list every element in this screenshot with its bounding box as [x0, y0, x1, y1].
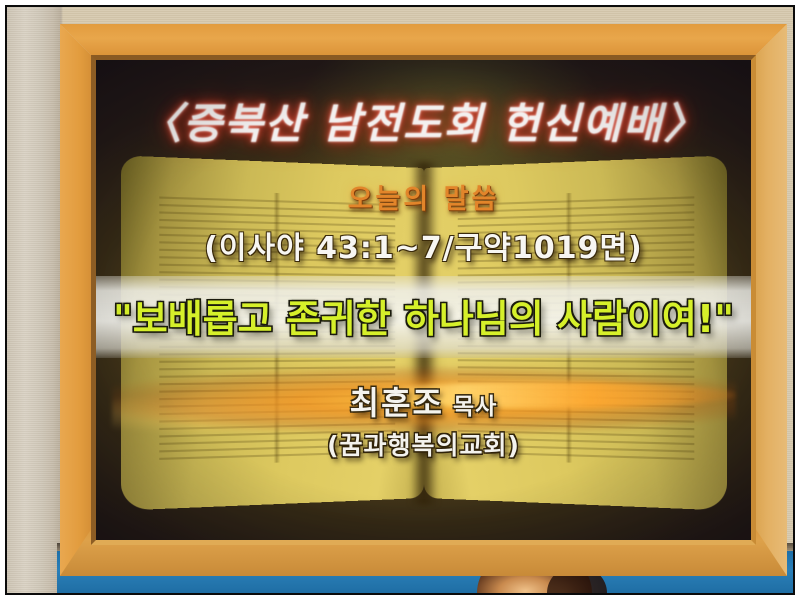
scripture-reference: (이사야 43:1~7/구약1019면)	[96, 223, 751, 267]
speaker-name: 최훈조	[350, 384, 444, 422]
slide-text-layer: 〈증북산 남전도회 헌신예배〉 오늘의 말씀 (이사야 43:1~7/구약101…	[96, 60, 751, 540]
photograph: 〈증북산 남전도회 헌신예배〉 오늘의 말씀 (이사야 43:1~7/구약101…	[0, 0, 800, 600]
wooden-picture-frame: 〈증북산 남전도회 헌신예배〉 오늘의 말씀 (이사야 43:1~7/구약101…	[60, 24, 787, 576]
slide-headline: 〈증북산 남전도회 헌신예배〉	[96, 90, 751, 151]
speaker-line: 최훈조목사	[96, 378, 751, 424]
speaker-title: 목사	[453, 394, 497, 420]
projection-screen: 〈증북산 남전도회 헌신예배〉 오늘의 말씀 (이사야 43:1~7/구약101…	[96, 60, 751, 540]
photo-inner-border: 〈증북산 남전도회 헌신예배〉 오늘의 말씀 (이사야 43:1~7/구약101…	[5, 5, 795, 595]
scripture-verse: "보배롭고 존귀한 하나님의 사람이여!"	[96, 288, 751, 343]
slide-subtitle: 오늘의 말씀	[96, 177, 751, 216]
church-name: (꿈과행복의교회)	[96, 426, 751, 462]
frame-right-rail	[751, 24, 787, 576]
